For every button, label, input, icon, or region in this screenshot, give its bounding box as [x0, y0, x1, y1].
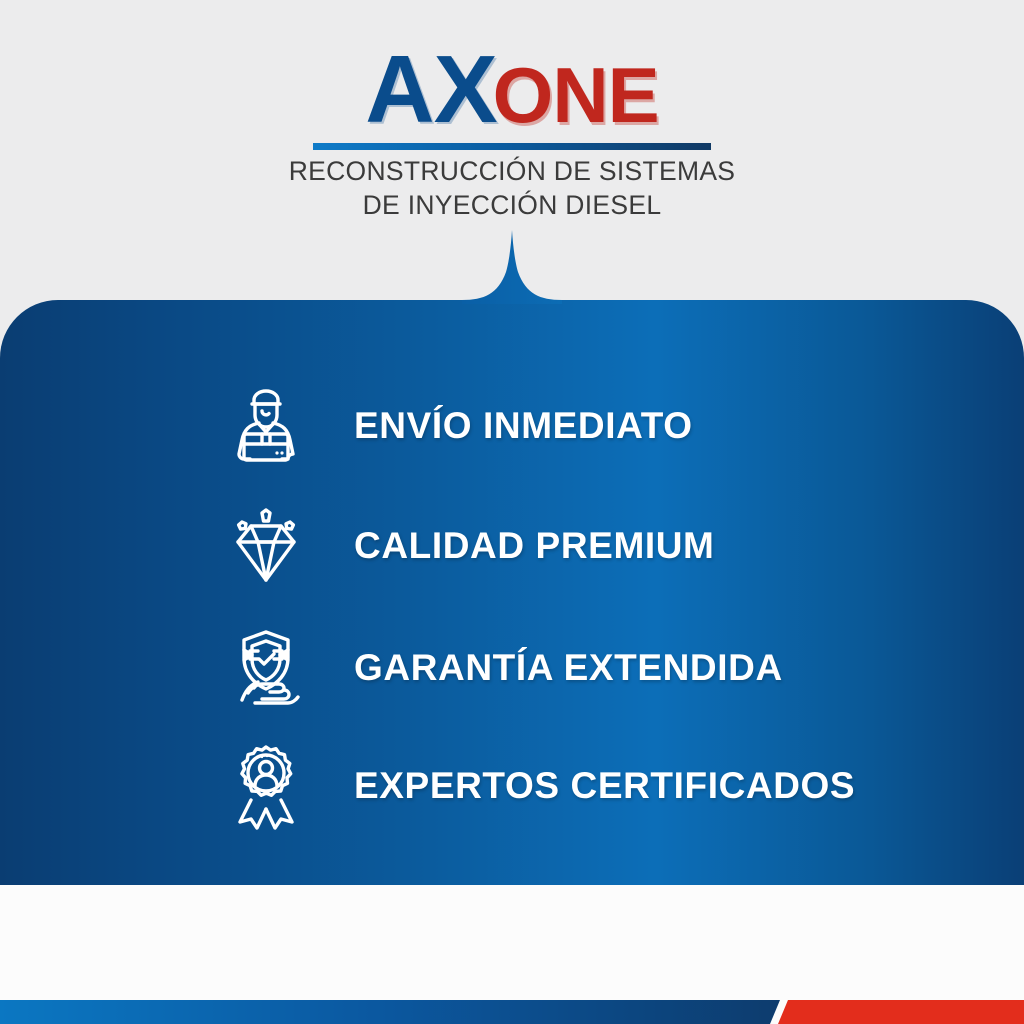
header: AXONE RECONSTRUCCIÓN DE SISTEMAS DE INYE…	[0, 0, 1024, 300]
award-badge-person-icon	[214, 734, 318, 838]
feature-label: EXPERTOS CERTIFICADOS	[354, 765, 855, 807]
bottom-accent-bar	[0, 990, 1024, 1024]
logo-one-text: ONE	[493, 51, 659, 139]
feature-label: GARANTÍA EXTENDIDA	[354, 647, 783, 689]
brand-tagline: RECONSTRUCCIÓN DE SISTEMAS DE INYECCIÓN …	[0, 155, 1024, 222]
tagline-line-2: DE INYECCIÓN DIESEL	[0, 189, 1024, 223]
feature-item-expertos-certificados: EXPERTOS CERTIFICADOS	[214, 734, 914, 838]
logo-text: AXONE	[365, 42, 658, 138]
logo-ax-text: AX	[365, 36, 496, 143]
shield-on-hand-icon	[214, 616, 318, 720]
tagline-line-1: RECONSTRUCCIÓN DE SISTEMAS	[0, 155, 1024, 189]
promo-graphic: AXONE RECONSTRUCCIÓN DE SISTEMAS DE INYE…	[0, 0, 1024, 1024]
feature-item-calidad-premium: CALIDAD PREMIUM	[214, 494, 914, 598]
feature-label: ENVÍO INMEDIATO	[354, 405, 693, 447]
feature-item-garantia-extendida: GARANTÍA EXTENDIDA	[214, 616, 914, 720]
brand-logo: AXONE	[0, 42, 1024, 138]
delivery-person-icon	[214, 374, 318, 478]
feature-label: CALIDAD PREMIUM	[354, 525, 714, 567]
feature-item-envio-inmediato: ENVÍO INMEDIATO	[214, 374, 914, 478]
features-list: ENVÍO INMEDIATO CALIDAD PREMIUM	[0, 300, 1024, 885]
diamond-icon	[214, 494, 318, 598]
logo-divider-rule	[313, 143, 711, 150]
